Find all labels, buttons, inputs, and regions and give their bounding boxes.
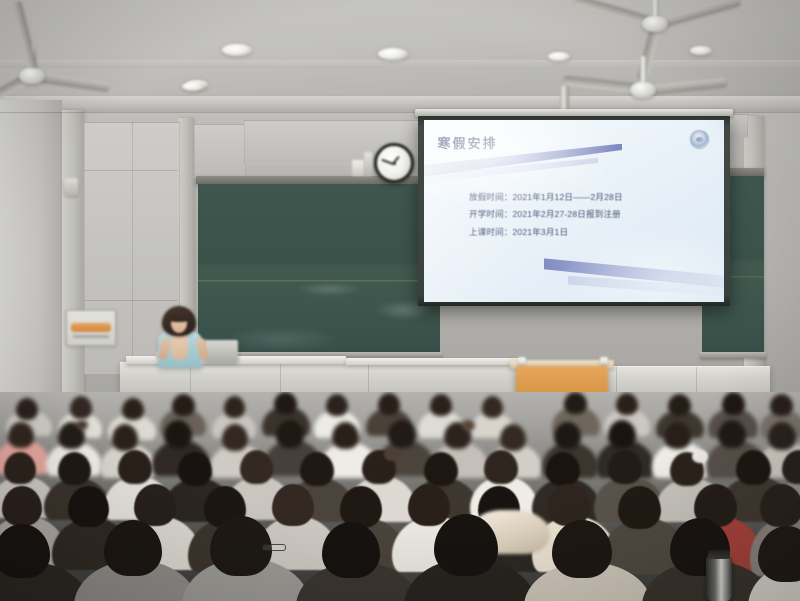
student-head — [482, 396, 503, 418]
student-head — [616, 393, 638, 415]
slide-surface: 寒假安排 放假时间：2021年1月12日——2月28日 开学时间：2021年2月… — [424, 120, 724, 302]
desk-monitor — [204, 340, 238, 362]
student-head — [164, 420, 192, 448]
blackboard-left — [198, 184, 440, 354]
student-head — [408, 484, 450, 526]
student-glasses — [262, 544, 286, 551]
projection-screen: 寒假安排 放假时间：2021年1月12日——2月28日 开学时间：2021年2月… — [418, 116, 730, 306]
student-head — [768, 422, 796, 450]
student-head — [240, 450, 273, 484]
left-wall — [0, 100, 62, 400]
wall-speaker — [64, 178, 78, 196]
lectern-knob — [600, 357, 608, 364]
student-head — [68, 486, 109, 527]
stage-desk — [346, 358, 522, 365]
student-head — [608, 450, 642, 484]
student-head — [16, 398, 38, 420]
student-head — [272, 484, 314, 526]
recessed-downlight — [378, 48, 408, 60]
student-head — [718, 420, 746, 448]
student-head-front — [552, 520, 612, 578]
blackboard-chalk-tray — [700, 352, 766, 358]
recessed-downlight — [548, 52, 570, 61]
student-hair-bun — [462, 420, 475, 431]
student-head — [134, 484, 176, 526]
student-head — [300, 452, 334, 486]
ceiling-fan-hub — [19, 68, 45, 84]
water-bottle — [706, 556, 732, 601]
slide-line-classes-start: 上课时间：2021年3月1日 — [469, 228, 709, 237]
wall-seam — [84, 170, 178, 171]
audience-area — [0, 392, 800, 601]
student-head — [274, 392, 297, 414]
chalk-smudge — [222, 326, 342, 352]
student-head — [332, 422, 359, 449]
student-head — [276, 420, 304, 448]
student-head — [222, 424, 248, 451]
slide-body: 放假时间：2021年1月12日——2月28日 开学时间：2021年2月27-28… — [469, 193, 709, 246]
student-head — [378, 393, 400, 415]
student-head — [326, 394, 348, 416]
student-head — [388, 420, 416, 448]
student-head — [484, 450, 518, 484]
recessed-downlight — [182, 82, 204, 91]
ceiling-fan-hub — [630, 82, 656, 98]
wall-seam — [84, 300, 178, 301]
wall-sign — [66, 310, 116, 346]
student-head — [736, 450, 771, 485]
student-head — [770, 394, 793, 416]
student-head — [8, 422, 34, 448]
student-head — [178, 452, 212, 486]
wall-pillar — [62, 110, 84, 392]
student-head — [722, 392, 745, 415]
student-hair-clip — [692, 450, 708, 463]
student-head-front — [104, 520, 162, 576]
presenter — [162, 306, 208, 368]
student-head — [664, 422, 691, 449]
university-emblem-icon — [690, 130, 709, 149]
slide-title: 寒假安排 — [438, 133, 498, 152]
board-ledge-item — [352, 160, 364, 176]
lectern-knob — [518, 357, 526, 364]
student-head — [118, 450, 152, 484]
student-head — [172, 394, 195, 416]
student-hair-bun — [76, 420, 88, 430]
student-head — [122, 398, 144, 420]
student-head — [112, 424, 138, 451]
recessed-downlight — [222, 44, 252, 56]
presenter-front-garment — [171, 334, 188, 360]
student-head-front — [434, 514, 498, 576]
ceiling-fan — [600, 56, 686, 116]
lecture-hall-photo: 寒假安排 放假时间：2021年1月12日——2月28日 开学时间：2021年2月… — [0, 0, 800, 601]
wall-clock — [374, 143, 414, 183]
wall-panel — [194, 124, 246, 178]
student-hair-bun — [384, 448, 400, 461]
student-head — [564, 392, 587, 414]
student-head — [424, 452, 458, 486]
ceiling-fan — [0, 46, 72, 106]
student-head — [668, 394, 691, 416]
student-head — [546, 452, 580, 486]
water-bottle-cap — [708, 550, 730, 559]
ceiling-fan-hub — [642, 16, 668, 32]
student-head — [608, 420, 636, 448]
student-head — [224, 396, 245, 418]
student-head — [2, 486, 42, 526]
student-head — [70, 396, 92, 419]
wall-sign-text — [73, 335, 109, 338]
student-head — [4, 452, 36, 484]
slide-line-registration-dates: 开学时间：2021年2月27-28日报到注册 — [469, 210, 709, 219]
student-head — [500, 424, 526, 451]
clock-center-pin — [393, 162, 396, 165]
presenter-bangs — [167, 312, 191, 322]
slide-line-vacation-dates: 放假时间：2021年1月12日——2月28日 — [469, 193, 709, 202]
wall-seam — [132, 122, 133, 372]
board-ledge-item — [364, 152, 372, 176]
student-head — [58, 452, 91, 485]
ceiling-fan — [612, 0, 698, 58]
student-head — [554, 422, 581, 449]
student-head — [618, 486, 661, 529]
student-head-front — [322, 522, 380, 578]
student-head — [430, 394, 452, 416]
chalk-smudge — [294, 282, 364, 296]
student-head — [760, 484, 800, 527]
wall-sign-banner — [71, 323, 110, 332]
